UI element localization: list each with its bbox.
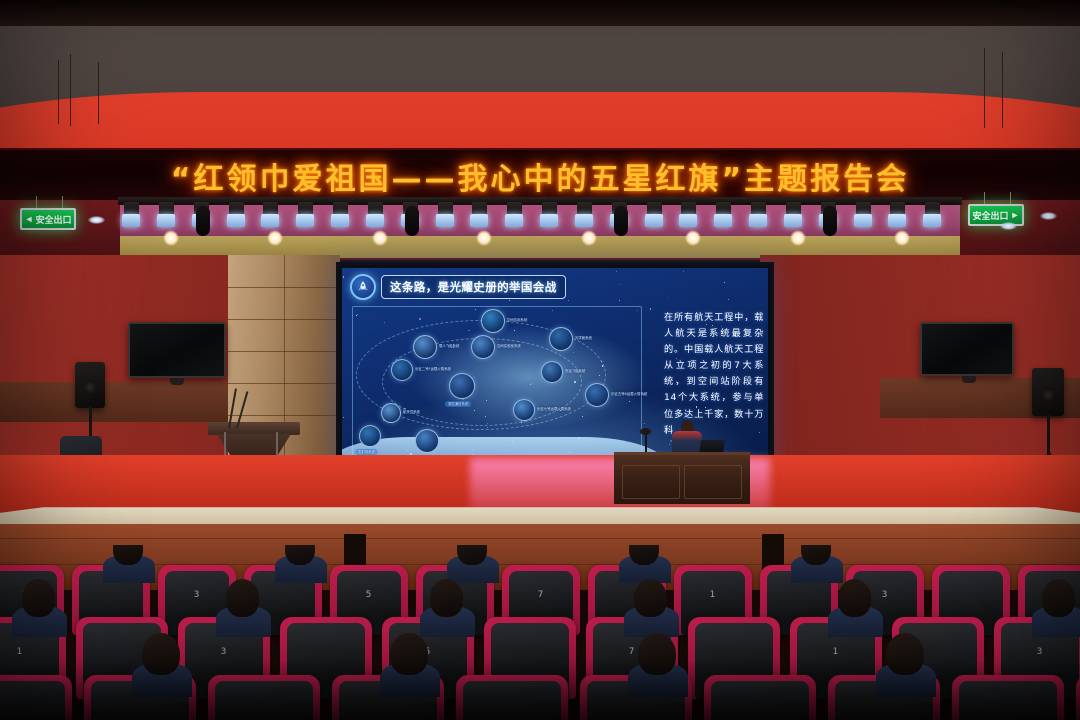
slide-title: 这条路，是光耀史册的举国会战 <box>390 280 557 294</box>
truss-lamp-light <box>645 214 663 227</box>
moving-head-light <box>196 206 210 236</box>
truss-lamp-light <box>227 214 245 227</box>
truss-lamp-light <box>296 214 314 227</box>
truss-lamp-light <box>540 214 558 227</box>
star <box>343 417 344 418</box>
truss-lamp-light <box>366 214 384 227</box>
seat-number: 3 <box>994 647 1080 657</box>
diagram-node <box>585 383 609 407</box>
seat-number: 5 <box>330 590 408 600</box>
presenter-desk <box>614 452 750 504</box>
exit-sign-left: ◄ 安全出口 <box>20 208 76 230</box>
truss-lamp-light <box>679 214 697 227</box>
diagram-node <box>449 373 475 399</box>
audience-head <box>634 579 668 617</box>
audience-head <box>457 545 487 565</box>
audience-head <box>22 579 56 617</box>
diagram-node-label: 长征五号B运载火箭系统 <box>611 392 647 396</box>
hanging-wire <box>70 54 71 126</box>
seat-number: 1 <box>0 647 66 657</box>
truss-lamp-light <box>331 214 349 227</box>
star <box>724 282 725 283</box>
exit-sign-hanger <box>36 196 37 208</box>
star <box>668 297 669 298</box>
diagram-node-label: 空间实验室系统 <box>497 344 521 348</box>
truss-lamp-light <box>749 214 767 227</box>
audience-head <box>629 545 659 565</box>
diagram-node-label: 测控通信系统 <box>445 401 471 407</box>
truss-lamp-light <box>436 214 454 227</box>
diagram-node-label: 空间应用系统 <box>507 318 527 322</box>
truss-lamp-light <box>714 214 732 227</box>
wall-wood-band-left <box>0 382 232 422</box>
star <box>343 276 344 277</box>
exit-sign-label: 安全出口 <box>973 209 1009 222</box>
seat-number: 7 <box>502 590 580 600</box>
star <box>644 423 645 424</box>
foreground-shadow <box>0 660 1080 720</box>
ceiling-downlight <box>88 216 105 224</box>
diagram-node-label: 载人飞船系统 <box>439 344 459 348</box>
diagram-node <box>541 361 563 383</box>
audience-head <box>430 579 464 617</box>
diagram-node <box>359 425 381 447</box>
audience-head <box>226 579 260 617</box>
monitor-mount-left <box>170 378 184 385</box>
hanging-wire <box>98 62 99 124</box>
diagram-node <box>513 399 535 421</box>
star <box>568 300 569 301</box>
diagram-node-label: 长征七号运载火箭系统 <box>537 407 571 411</box>
slide-header: 这条路，是光耀史册的举国会战 <box>350 274 566 300</box>
exit-arrow-icon: ► <box>1011 210 1020 220</box>
diagram-node <box>413 335 437 359</box>
moving-head-light <box>823 206 837 236</box>
truss-lamp-light <box>122 214 140 227</box>
loudspeaker-left <box>75 362 105 408</box>
star <box>619 300 620 301</box>
ceiling <box>0 0 1080 160</box>
audience-head <box>1042 579 1076 617</box>
exit-sign-label: 安全出口 <box>35 213 71 226</box>
truss-wash-light <box>581 230 597 246</box>
diagram-node <box>481 309 505 333</box>
ceiling-top-shadow <box>0 0 1080 26</box>
diagram-node <box>391 359 413 381</box>
hanging-wire <box>984 48 985 128</box>
diagram-node-label: 航天员系统 <box>403 410 420 414</box>
presenter-microphone-stand <box>645 432 647 452</box>
seat-number: 3 <box>178 647 270 657</box>
hanging-wire <box>1002 52 1003 128</box>
diagram-node-label: 长征二号F运载火箭系统 <box>415 367 451 371</box>
exit-arrow-icon: ◄ <box>25 214 34 224</box>
truss-wash-light <box>163 230 179 246</box>
seat-number: 3 <box>158 590 236 600</box>
truss-lamp-light <box>854 214 872 227</box>
seat-number: 1 <box>790 647 882 657</box>
loudspeaker-right <box>1032 368 1064 416</box>
presenter <box>672 420 702 456</box>
exit-sign-right: 安全出口 ► <box>968 204 1024 226</box>
ceiling-downlight <box>1040 212 1057 220</box>
truss-lamp-light <box>575 214 593 227</box>
exit-sign-hanger <box>984 192 985 204</box>
star <box>650 308 652 310</box>
audience-head <box>838 579 872 617</box>
star <box>616 271 617 272</box>
star <box>683 271 684 272</box>
lighting-truss <box>0 200 1080 258</box>
event-banner: “红领巾爱祖国——我心中的五星红旗”主题报告会 <box>0 148 1080 204</box>
monitor-mount-right <box>962 376 976 383</box>
slide-title-pill: 这条路，是光耀史册的举国会战 <box>381 275 566 299</box>
audience-area: 1357135135713 <box>0 545 1080 720</box>
diagram-node-label: 货运飞船系统 <box>565 369 585 373</box>
rocket-icon <box>350 274 376 300</box>
diagram-node <box>415 429 439 453</box>
star <box>619 284 620 285</box>
banner-title: “红领巾爱祖国——我心中的五星红旗”主题报告会 <box>171 154 909 198</box>
exit-sign-hanger <box>1010 192 1011 204</box>
truss-lamp-light <box>261 214 279 227</box>
truss-lamp-light <box>888 214 906 227</box>
presenter-microphone-head <box>640 428 651 435</box>
moving-head-light <box>614 206 628 236</box>
moving-head-light <box>405 206 419 236</box>
ceiling-downlight <box>1000 222 1017 230</box>
audience-head <box>113 545 143 565</box>
wall-monitor-left <box>128 322 226 378</box>
truss-lamp-light <box>784 214 802 227</box>
truss-wash-light <box>790 230 806 246</box>
truss-lamp-light <box>505 214 523 227</box>
hanging-wire <box>58 60 59 124</box>
star <box>728 299 729 300</box>
diagram-node <box>381 403 401 423</box>
star <box>669 444 670 445</box>
diagram-node <box>471 335 495 359</box>
truss-lamp-light <box>470 214 488 227</box>
diagram-node <box>549 327 573 351</box>
truss-lamp-light <box>157 214 175 227</box>
truss-wash-light <box>372 230 388 246</box>
seat-number: 1 <box>674 590 752 600</box>
audience-head <box>801 545 831 565</box>
systems-diagram: 空间应用系统测控通信系统空间实验室系统光学舱系统载人飞船系统货运飞船系统长征二号… <box>352 306 642 476</box>
auditorium-scene: “红领巾爱祖国——我心中的五星红旗”主题报告会 ◄ 安全出口 安全出口 ► <box>0 0 1080 720</box>
truss-lamp-light <box>923 214 941 227</box>
exit-sign-hanger <box>62 196 63 208</box>
wall-monitor-right <box>920 322 1014 376</box>
audience-head <box>285 545 315 565</box>
diagram-node-label: 光学舱系统 <box>575 336 592 340</box>
